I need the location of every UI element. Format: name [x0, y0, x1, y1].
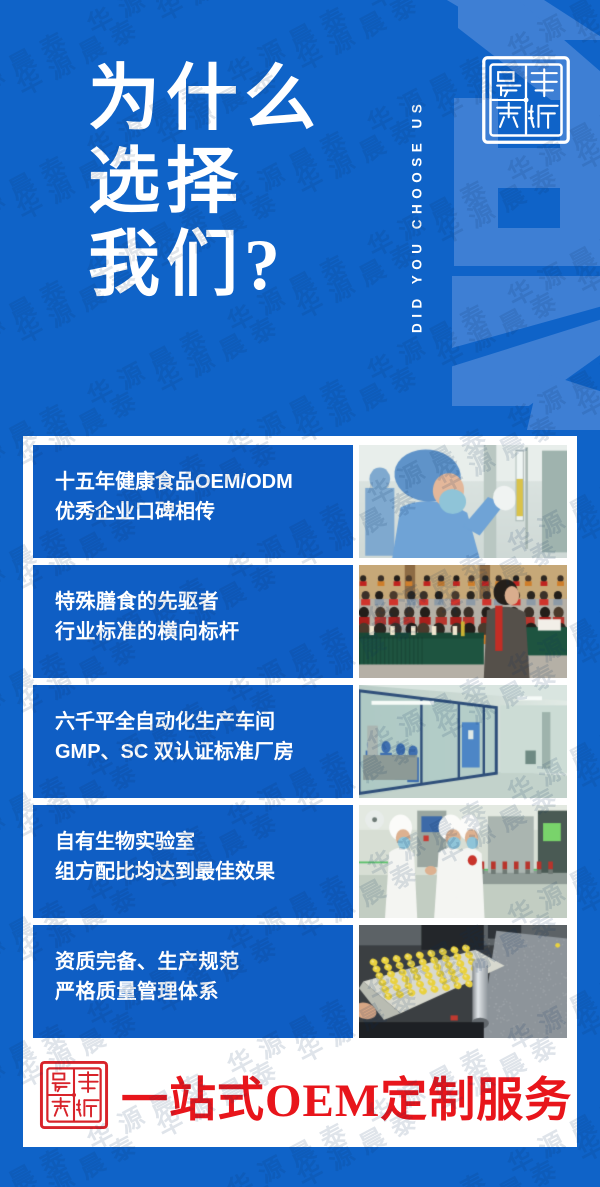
- feature-line-1: 十五年健康食品OEM/ODM: [55, 467, 353, 497]
- feature-line-1: 特殊膳食的先驱者: [55, 587, 353, 617]
- title-line-1: 为什么: [88, 58, 388, 141]
- vertical-english-tagline: DID YOU CHOOSE US: [404, 18, 430, 414]
- feature-line-2: 组方配比均达到最佳效果: [55, 857, 353, 887]
- poster-root: 为什么 选择 我们? DID YOU CHOOSE US: [0, 0, 600, 1187]
- page-title: 为什么 选择 我们?: [88, 58, 388, 306]
- feature-card-list: 十五年健康食品OEM/ODM 优秀企业口碑相传 特殊膳食的先驱者 行业标准的横向…: [33, 445, 567, 1045]
- feature-card[interactable]: 六千平全自动化生产车间 GMP、SC 双认证标准厂房: [33, 685, 567, 798]
- features-panel: 十五年健康食品OEM/ODM 优秀企业口碑相传 特殊膳食的先驱者 行业标准的横向…: [23, 436, 577, 1147]
- feature-image-blister-packing: [359, 925, 567, 1038]
- footer-slogan-bar: 一站式OEM定制服务: [23, 1048, 577, 1142]
- feature-line-2: 严格质量管理体系: [55, 977, 353, 1007]
- feature-card-text: 六千平全自动化生产车间 GMP、SC 双认证标准厂房: [33, 685, 353, 798]
- feature-card-text: 资质完备、生产规范 严格质量管理体系: [33, 925, 353, 1038]
- feature-card[interactable]: 自有生物实验室 组方配比均达到最佳效果: [33, 805, 567, 918]
- feature-line-1: 资质完备、生产规范: [55, 947, 353, 977]
- feature-card-text: 十五年健康食品OEM/ODM 优秀企业口碑相传: [33, 445, 353, 558]
- footer-slogan: 一站式OEM定制服务: [121, 1061, 572, 1130]
- feature-line-2: GMP、SC 双认证标准厂房: [55, 737, 353, 767]
- feature-card[interactable]: 十五年健康食品OEM/ODM 优秀企业口碑相传: [33, 445, 567, 558]
- feature-card[interactable]: 特殊膳食的先驱者 行业标准的横向标杆: [33, 565, 567, 678]
- feature-line-1: 六千平全自动化生产车间: [55, 707, 353, 737]
- feature-line-2: 行业标准的横向标杆: [55, 617, 353, 647]
- feature-card[interactable]: 资质完备、生产规范 严格质量管理体系: [33, 925, 567, 1038]
- feature-image-cleanroom: [359, 685, 567, 798]
- feature-line-2: 优秀企业口碑相传: [55, 497, 353, 527]
- feature-image-lab-technician: [359, 445, 567, 558]
- title-line-2: 选择: [88, 141, 388, 224]
- poster-header: 为什么 选择 我们? DID YOU CHOOSE US: [0, 0, 600, 436]
- feature-image-production-line: [359, 805, 567, 918]
- feature-card-text: 自有生物实验室 组方配比均达到最佳效果: [33, 805, 353, 918]
- title-line-3: 我们?: [88, 224, 388, 307]
- bottom-strip: [0, 1147, 600, 1187]
- feature-image-conference: [359, 565, 567, 678]
- feature-line-1: 自有生物实验室: [55, 827, 353, 857]
- feature-card-text: 特殊膳食的先驱者 行业标准的横向标杆: [33, 565, 353, 678]
- footer-seal-icon: [37, 1058, 111, 1132]
- brand-seal-icon: [478, 52, 574, 148]
